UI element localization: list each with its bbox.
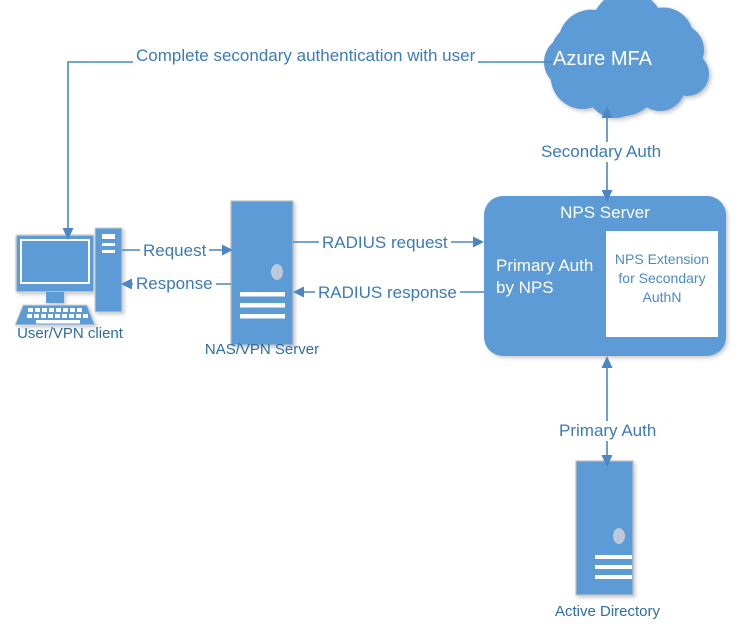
diagram-canvas: Azure MFA Complete secondary authenticat… bbox=[0, 0, 739, 628]
nps-primary-auth-label: Primary Auth by NPS bbox=[496, 255, 606, 299]
server-tower-icon-ad bbox=[576, 461, 633, 595]
server-tower-icon-nas bbox=[231, 201, 293, 345]
connector-complete-secondary-auth bbox=[63, 62, 553, 240]
connector-label-complete-secondary-auth: Complete secondary authentication with u… bbox=[133, 46, 478, 66]
user-vpn-client-caption: User/VPN client bbox=[0, 325, 140, 343]
connector-label-response: Response bbox=[133, 274, 216, 294]
nas-vpn-server-caption: NAS/VPN Server bbox=[192, 341, 332, 359]
connector-label-radius-response: RADIUS response bbox=[315, 283, 460, 303]
connector-primary-auth bbox=[602, 356, 613, 467]
connector-label-secondary-auth: Secondary Auth bbox=[538, 142, 664, 162]
nps-extension-label: NPS Extension for Secondary AuthN bbox=[608, 250, 716, 307]
azure-mfa-label: Azure MFA bbox=[530, 48, 675, 71]
connector-label-request: Request bbox=[140, 241, 209, 261]
desktop-computer-icon bbox=[15, 228, 122, 325]
active-directory-caption: Active Directory bbox=[535, 603, 680, 621]
connector-label-radius-request: RADIUS request bbox=[319, 233, 451, 253]
nps-server-title: NPS Server bbox=[484, 203, 726, 223]
connector-label-primary-auth: Primary Auth bbox=[556, 421, 659, 441]
